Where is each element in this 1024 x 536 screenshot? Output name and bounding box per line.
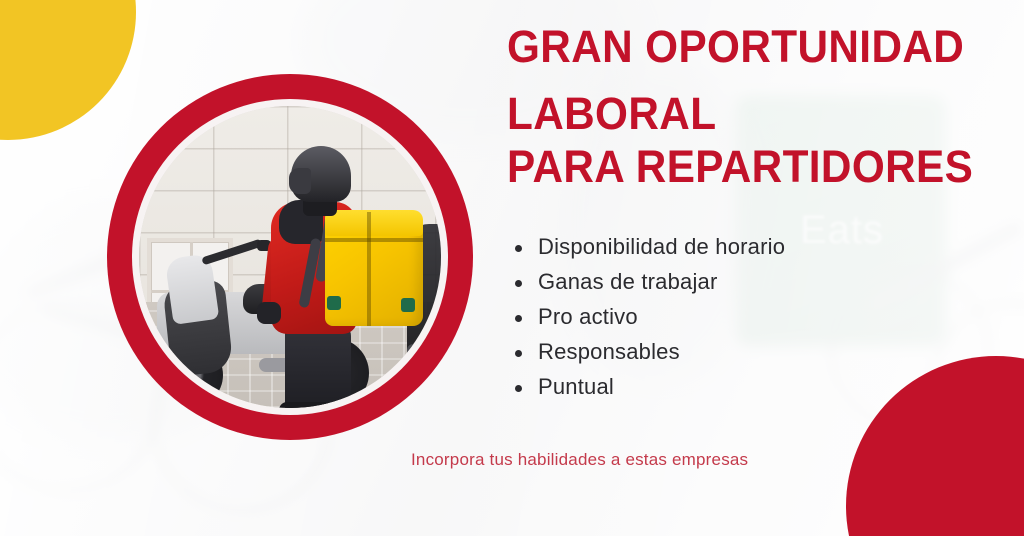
rider-glove (257, 302, 281, 324)
requirement-item: Disponibilidad de horario (512, 234, 785, 260)
helmet-visor (289, 168, 311, 194)
backpack-zipper (367, 212, 371, 326)
rider-boot (279, 402, 335, 408)
rider-photo-ring (107, 74, 473, 440)
rider-legs (285, 322, 351, 408)
requirements-list: Disponibilidad de horario Ganas de traba… (512, 234, 785, 409)
photo-side-bag (407, 344, 441, 378)
backpack-clip-right (401, 298, 415, 312)
backpack-seam (325, 238, 423, 242)
rider-photo (139, 106, 441, 408)
headline-line-1: GRAN OPORTUNIDAD (507, 24, 977, 69)
backpack-lid (325, 210, 423, 236)
requirement-item: Responsables (512, 339, 785, 365)
requirement-item: Pro activo (512, 304, 785, 330)
requirement-item: Ganas de trabajar (512, 269, 785, 295)
headline: GRAN OPORTUNIDAD LABORAL PARA REPARTIDOR… (507, 24, 1007, 189)
tagline: Incorpora tus habilidades a estas empres… (411, 450, 748, 470)
requirement-item: Puntual (512, 374, 785, 400)
headline-line-3: PARA REPARTIDORES (507, 144, 977, 189)
job-ad-banner: Eats (0, 0, 1024, 536)
backpack-clip-left (327, 296, 341, 310)
headline-line-2: LABORAL (507, 91, 977, 136)
